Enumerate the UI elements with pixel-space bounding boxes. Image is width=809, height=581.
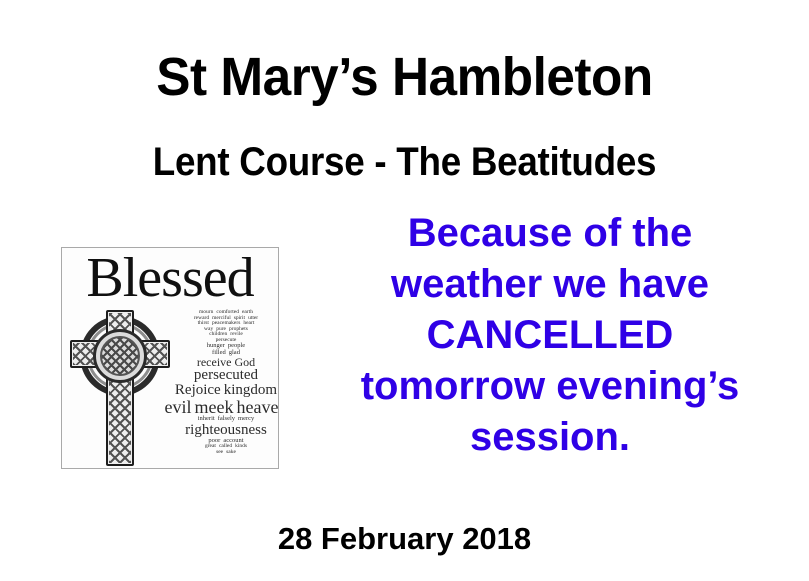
word-cloud-word: meek	[195, 398, 234, 416]
word-cloud-word: kingdom	[224, 383, 277, 398]
word-cloud-word: great	[205, 444, 216, 450]
blessed-heading-text: Blessed	[62, 247, 278, 310]
word-cloud-word: see	[216, 450, 223, 456]
blessed-image: Blessed mourncomfortedearthrewardmercifu…	[61, 247, 279, 469]
word-cloud-row: seesake	[174, 450, 278, 456]
announcement-line: Because of the	[300, 208, 800, 259]
page-subtitle: Lent Course - The Beatitudes	[32, 138, 776, 186]
beatitudes-word-cloud: mourncomfortedearthrewardmercifulspiritu…	[174, 310, 278, 466]
word-cloud-word: kinds	[235, 444, 247, 450]
announcement-line: CANCELLED	[300, 310, 800, 361]
word-cloud-row: righteousness	[174, 423, 278, 438]
word-cloud-word: sake	[226, 450, 236, 456]
slide-date: 28 February 2018	[0, 520, 809, 558]
slide-canvas: St Mary’s Hambleton Lent Course - The Be…	[0, 0, 809, 581]
cancellation-announcement: Because of theweather we haveCANCELLEDto…	[300, 208, 800, 463]
cross-center-knot	[100, 336, 140, 376]
word-cloud-word: evil	[165, 398, 192, 416]
word-cloud-word: righteousness	[185, 423, 267, 438]
announcement-line: weather we have	[300, 259, 800, 310]
word-cloud-row: evilmeekheaven	[174, 398, 278, 416]
word-cloud-word: Rejoice	[175, 383, 221, 398]
word-cloud-word: heaven	[237, 398, 279, 416]
word-cloud-row: Rejoicekingdom	[174, 383, 278, 398]
word-cloud-row: persecuted	[174, 368, 278, 383]
announcement-line: tomorrow evening’s	[300, 361, 800, 412]
celtic-cross-icon	[66, 310, 174, 466]
announcement-line: session.	[300, 412, 800, 463]
page-title: St Mary’s Hambleton	[20, 46, 789, 108]
word-cloud-word: persecuted	[194, 368, 258, 383]
